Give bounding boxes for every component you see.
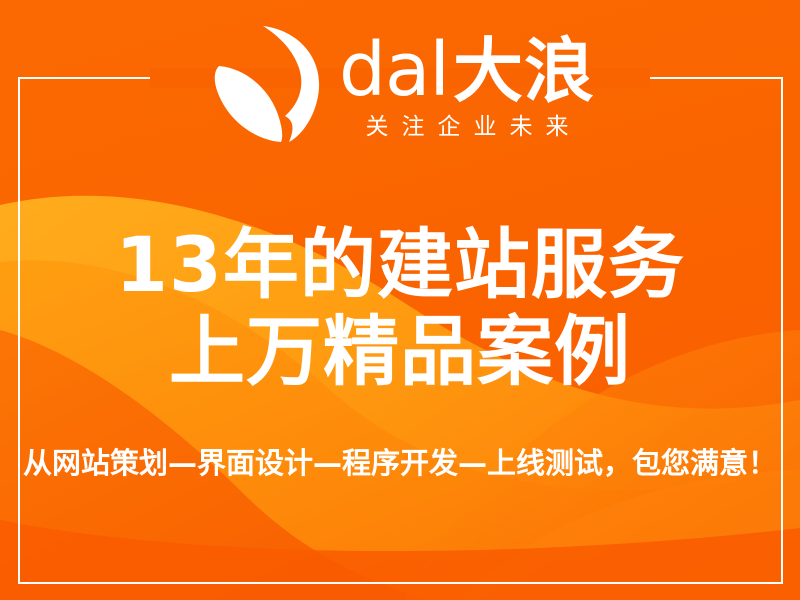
headline-line-1: 13年的建站服务 [0,222,800,309]
logo-wordmark: dal 大浪 [339,33,595,107]
logo-wordmark-cjk: 大浪 [453,36,595,106]
logo-tagline: 关注企业未来 [352,116,581,139]
logo-text-block: dal 大浪 关注企业未来 [339,29,595,139]
dal-leaf-mark-icon [205,24,321,144]
headline-block: 13年的建站服务 上万精品案例 [0,222,800,395]
logo-wordmark-latin: dal [339,33,449,107]
logo-lockup: dal 大浪 关注企业未来 [0,14,800,154]
promo-banner: dal 大浪 关注企业未来 13年的建站服务 上万精品案例 从网站策划—界面设计… [0,0,800,600]
headline-line-2: 上万精品案例 [0,309,800,396]
sub-tagline: 从网站策划—界面设计—程序开发—上线测试，包您满意！ [0,440,800,482]
